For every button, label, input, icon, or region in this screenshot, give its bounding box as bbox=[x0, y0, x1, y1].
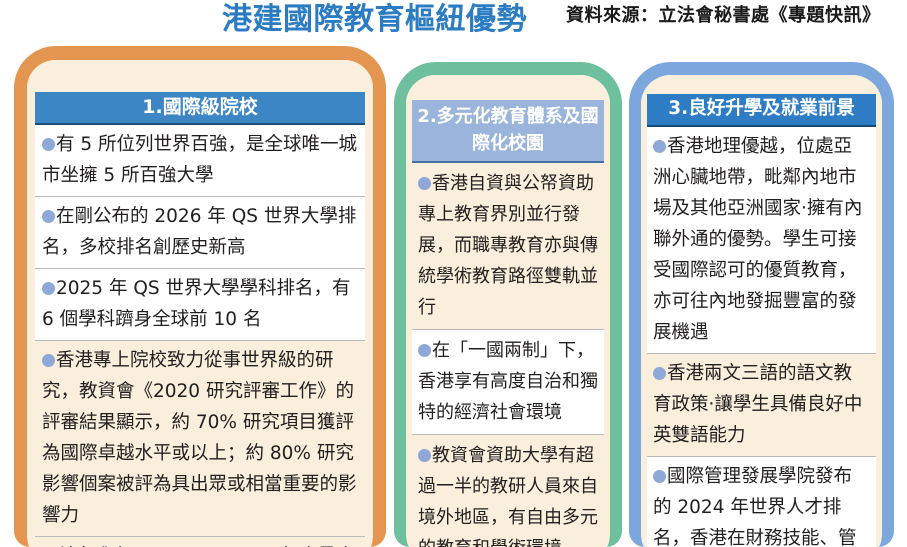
card-inner: 3.良好升學及就業前景 香港地理優越，位處亞洲心臟地帶，毗鄰內地市場及其他亞洲國… bbox=[641, 75, 882, 547]
bullet-list: 香港地理優越，位處亞洲心臟地帶，毗鄰內地市場及其他亞洲國家·擁有內聯外通的優勢。… bbox=[647, 127, 876, 547]
bullet-dot-icon bbox=[42, 354, 55, 367]
list-item: 在剛公布的 2026 年 QS 世界大學排名，多校排名創歷史新高 bbox=[35, 197, 365, 269]
card-inner: 2.多元化教育體系及國際化校園 香港自資與公帑資助專上教育界別並行發展，而職專教… bbox=[406, 75, 610, 547]
list-item-text: 香港專上院校致力從事世界級的研究，教資會《2020 研究評審工作》的評審結果顯示… bbox=[42, 350, 357, 526]
bullet-dot-icon bbox=[42, 282, 55, 295]
list-item-text: 國際管理發展學院發布的 2024 年世界人才排名，香港在財務技能、管理教育成效、… bbox=[653, 466, 857, 547]
bullet-dot-icon bbox=[418, 449, 431, 462]
bullet-list: 香港自資與公帑資助專上教育界別並行發展，而職專教育亦與傳統學術教育路徑雙軌並行 … bbox=[412, 163, 604, 547]
list-item-text: 教資會資助大學有超過一半的教研人員來自境外地區，有自由多元的教育和學術環境 bbox=[418, 445, 598, 547]
list-item: 在「一國兩制」下，香港享有高度自治和獨特的經濟社會環境 bbox=[412, 330, 604, 435]
card-heading: 2.多元化教育體系及國際化校園 bbox=[412, 100, 604, 163]
list-item-text: 2025 年 QS 世界大學學科排名，有 6 個學科躋身全球前 10 名 bbox=[42, 278, 351, 330]
bullet-dot-icon bbox=[418, 177, 431, 190]
list-item-text: 香港地理優越，位處亞洲心臟地帶，毗鄰內地市場及其他亞洲國家·擁有內聯外通的優勢。… bbox=[653, 136, 862, 343]
page-title: 港建國際教育樞紐優勢 bbox=[222, 1, 527, 39]
bullet-dot-icon bbox=[653, 140, 666, 153]
bullet-dot-icon bbox=[653, 470, 666, 483]
source-note: 資料來源：立法會秘書處《專題快訊》 bbox=[566, 4, 881, 28]
card-study-career-prospects: 3.良好升學及就業前景 香港地理優越，位處亞洲心臟地帶，毗鄰內地市場及其他亞洲國… bbox=[629, 62, 894, 547]
list-item-text: 香港兩文三語的語文教育政策·讓學生具備良好中英雙語能力 bbox=[653, 363, 862, 446]
page-header: 港建國際教育樞紐優勢 資料來源：立法會秘書處《專題快訊》 bbox=[0, 0, 907, 44]
list-item: 香港自資與公帑資助專上教育界別並行發展，而職專教育亦與傳統學術教育路徑雙軌並行 bbox=[412, 163, 604, 330]
bullet-dot-icon bbox=[418, 344, 431, 357]
list-item: 教資會資助大學有超過一半的教研人員來自境外地區，有自由多元的教育和學術環境 bbox=[412, 435, 604, 547]
list-item-text: 有 5 所位列世界百強，是全球唯一城市坐擁 5 所百強大學 bbox=[42, 134, 357, 186]
list-item: 國際管理發展學院發布的 2024 年世界人才排名，香港在財務技能、管理教育成效、… bbox=[647, 457, 876, 547]
bullet-dot-icon bbox=[653, 367, 666, 380]
bullet-list: 有 5 所位列世界百強，是全球唯一城市坐擁 5 所百強大學 在剛公布的 2026… bbox=[35, 125, 365, 547]
list-item: 香港兩文三語的語文教育政策·讓學生具備良好中英雙語能力 bbox=[647, 354, 876, 457]
list-item-text: 在「一國兩制」下，香港享有高度自治和獨特的經濟社會環境 bbox=[418, 340, 598, 423]
bullet-dot-icon bbox=[42, 210, 55, 223]
list-item-text: 在剛公布的 2026 年 QS 世界大學排名，多校排名創歷史新高 bbox=[42, 206, 356, 258]
list-item-text: 香港自資與公帑資助專上教育界別並行發展，而職專教育亦與傳統學術教育路徑雙軌並行 bbox=[418, 173, 598, 318]
card-inner: 1.國際級院校 有 5 所位列世界百強，是全球唯一城市坐擁 5 所百強大學 在剛… bbox=[27, 60, 373, 547]
list-item: 香港專上院校致力從事世界級的研究，教資會《2020 研究評審工作》的評審結果顯示… bbox=[35, 341, 365, 537]
card-international-institutions: 1.國際級院校 有 5 所位列世界百強，是全球唯一城市坐擁 5 所百強大學 在剛… bbox=[14, 46, 386, 547]
card-heading: 1.國際級院校 bbox=[35, 92, 365, 125]
card-heading: 3.良好升學及就業前景 bbox=[647, 94, 876, 127]
list-item: 有 5 所位列世界百強，是全球唯一城市坐擁 5 所百強大學 bbox=[35, 125, 365, 197]
list-item: 2025 年 QS 世界大學學科排名，有 6 個學科躋身全球前 10 名 bbox=[35, 269, 365, 341]
list-item: 科睿唯安(Clarivate)2024 年度最廣獲徵引研究人員，香港有 134 … bbox=[35, 537, 365, 547]
list-item: 香港地理優越，位處亞洲心臟地帶，毗鄰內地市場及其他亞洲國家·擁有內聯外通的優勢。… bbox=[647, 127, 876, 354]
card-diverse-education-system: 2.多元化教育體系及國際化校園 香港自資與公帑資助專上教育界別並行發展，而職專教… bbox=[394, 62, 622, 547]
bullet-dot-icon bbox=[42, 138, 55, 151]
